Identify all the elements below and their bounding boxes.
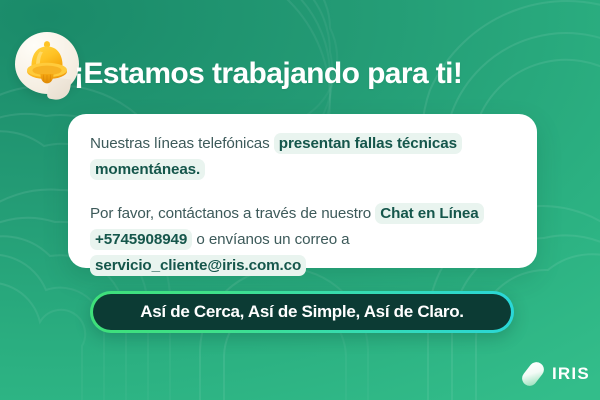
- paragraph2-plain-prefix: Por favor, contáctanos a través de nuest…: [90, 205, 375, 222]
- message-card: Nuestras líneas telefónicas presentan fa…: [68, 114, 537, 268]
- bell-icon: [22, 38, 74, 90]
- capsule-mark-icon: [519, 359, 547, 389]
- page-title: ¡Estamos trabajando para ti!: [74, 57, 462, 91]
- paragraph2-plain-middle: o envíanos un correo a: [192, 231, 349, 248]
- paragraph1-plain: Nuestras líneas telefónicas: [90, 135, 274, 152]
- iris-logo-text: IRIS: [552, 364, 590, 384]
- slogan-text: Así de Cerca, Así de Simple, Así de Clar…: [140, 302, 463, 322]
- support-email-highlight[interactable]: servicio_cliente@iris.com.co: [90, 255, 306, 276]
- card-paragraph-1: Nuestras líneas telefónicas presentan fa…: [90, 131, 515, 183]
- slogan-pill-inner: Así de Cerca, Así de Simple, Así de Clar…: [93, 294, 511, 330]
- banner-canvas: ¡Estamos trabajando para ti! Nuestras lí…: [0, 0, 600, 400]
- card-paragraph-2: Por favor, contáctanos a través de nuest…: [90, 201, 515, 279]
- iris-logo: IRIS: [519, 360, 589, 390]
- slogan-pill[interactable]: Así de Cerca, Así de Simple, Así de Clar…: [90, 291, 514, 333]
